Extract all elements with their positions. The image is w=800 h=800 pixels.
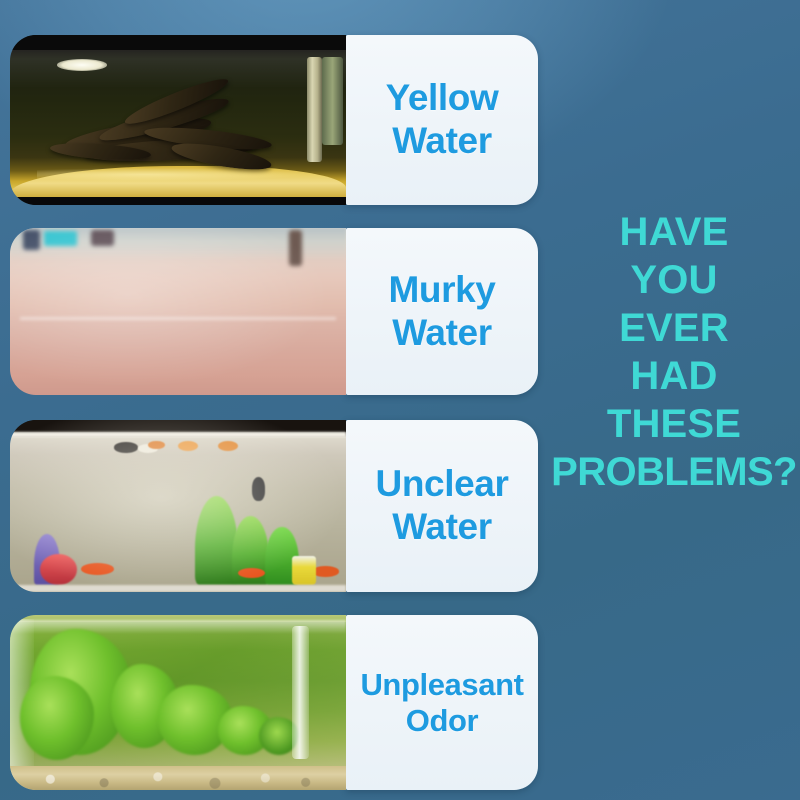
- label-card-murky-water[interactable]: Murky Water: [346, 228, 538, 395]
- tank-base: [10, 197, 346, 206]
- headline-line-2: YOU: [548, 256, 800, 304]
- headline-line-1: HAVE: [548, 208, 800, 256]
- headline-line-5: THESE: [548, 400, 800, 448]
- label-line-2: Water: [392, 120, 491, 161]
- problem-row-unpleasant-odor[interactable]: Unpleasant Odor: [10, 615, 538, 790]
- label-line-2: Odor: [406, 703, 478, 738]
- label-line-2: Water: [392, 506, 491, 547]
- label-line-2: Water: [392, 312, 491, 353]
- aquarium-scene-yellow-water: [10, 35, 346, 205]
- problem-label-unclear-water: Unclear Water: [370, 463, 515, 549]
- headline-have-you-ever-had-these-problems: HAVE YOU EVER HAD THESE PROBLEMS?: [548, 208, 800, 496]
- label-card-unclear-water[interactable]: Unclear Water: [346, 420, 538, 592]
- cloudy-haze: [10, 420, 346, 592]
- tank-hood: [10, 35, 346, 50]
- problem-list: Yellow Water: [10, 0, 540, 800]
- photo-unclear-water: [10, 420, 346, 592]
- label-card-unpleasant-odor[interactable]: Unpleasant Odor: [346, 615, 538, 790]
- problem-row-yellow-water[interactable]: Yellow Water: [10, 35, 538, 205]
- tank-light-reflection: [57, 59, 107, 71]
- sand-substrate: [10, 166, 346, 197]
- gravel-substrate: [10, 766, 346, 791]
- problem-label-unpleasant-odor: Unpleasant Odor: [354, 667, 529, 739]
- problem-row-murky-water[interactable]: Murky Water: [10, 228, 538, 395]
- problem-label-murky-water: Murky Water: [383, 269, 502, 355]
- aquarium-scene-murky-water: [10, 228, 346, 395]
- photo-yellow-water: [10, 35, 346, 205]
- label-line-1: Unpleasant: [360, 667, 523, 702]
- headline-line-6: PROBLEMS?: [548, 448, 800, 496]
- aquarium-scene-algae: [10, 615, 346, 790]
- glass-glare: [10, 50, 346, 87]
- filter-tube: [292, 626, 309, 759]
- headline-line-4: HAD: [548, 352, 800, 400]
- photo-murky-water: [10, 228, 346, 395]
- problem-label-yellow-water: Yellow Water: [380, 77, 505, 163]
- label-line-1: Murky: [389, 269, 496, 310]
- cloudy-haze: [10, 228, 346, 395]
- headline-line-3: EVER: [548, 304, 800, 352]
- tank-base: [10, 585, 346, 592]
- filter-pipe: [307, 57, 322, 162]
- aquarium-scene-unclear-water: [10, 420, 346, 592]
- filter-pipe-secondary: [322, 57, 342, 145]
- label-card-yellow-water[interactable]: Yellow Water: [346, 35, 538, 205]
- label-line-1: Yellow: [386, 77, 499, 118]
- problem-row-unclear-water[interactable]: Unclear Water: [10, 420, 538, 592]
- promo-banner: Yellow Water: [0, 0, 800, 800]
- photo-unpleasant-odor: [10, 615, 346, 790]
- label-line-1: Unclear: [376, 463, 509, 504]
